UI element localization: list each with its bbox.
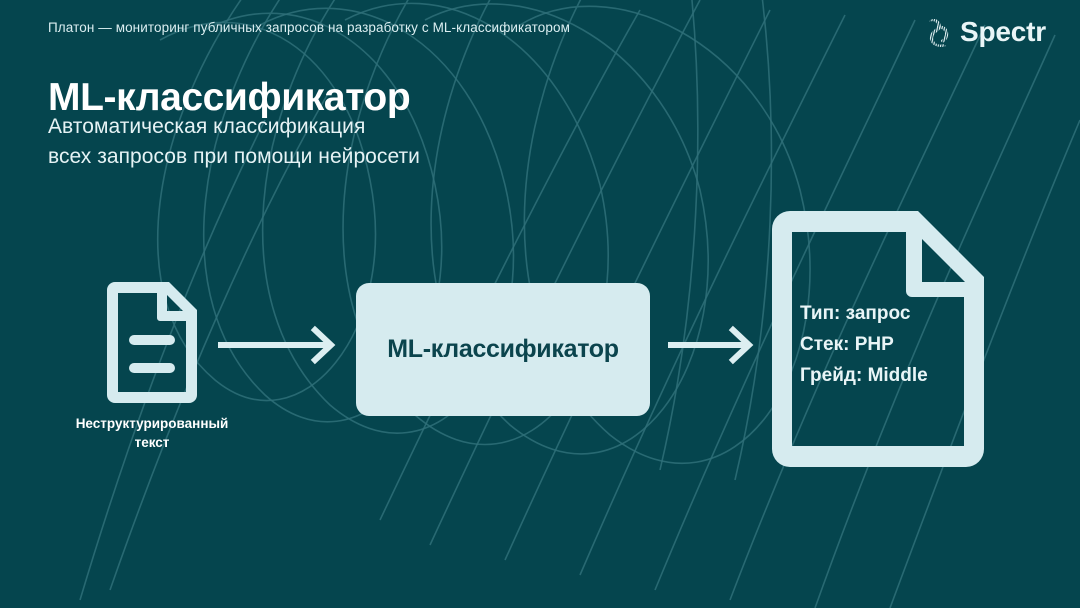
output-field-type: Тип: запрос	[800, 299, 968, 330]
output-document-card: Тип: запрос Стек: PHP Грейд: Middle	[772, 211, 984, 467]
spectr-striped-mark-icon	[925, 17, 951, 47]
brand-logo-text: Spectr	[960, 18, 1046, 46]
page-subtitle: Автоматическая классификация всех запрос…	[48, 112, 420, 172]
brand-logo: Spectr	[925, 17, 1046, 47]
document-lines-icon	[99, 281, 205, 404]
page-subtitle-line-2: всех запросов при помощи нейросети	[48, 142, 420, 172]
arrow-right-icon	[668, 325, 760, 365]
input-caption-line-1: Неструктурированный	[76, 416, 229, 431]
output-document-fields: Тип: запрос Стек: PHP Грейд: Middle	[800, 299, 968, 391]
ml-classifier-node[interactable]: ML-классификатор	[356, 283, 650, 416]
input-caption-line-2: текст	[135, 435, 170, 450]
page-subtitle-line-1: Автоматическая классификация	[48, 112, 420, 142]
arrow-right-icon	[218, 325, 342, 365]
output-field-stack: Стек: PHP	[800, 330, 968, 361]
slide-canvas: Платон — мониторинг публичных запросов н…	[0, 0, 1080, 608]
slide-kicker: Платон — мониторинг публичных запросов н…	[48, 20, 570, 35]
output-field-grade: Грейд: Middle	[800, 361, 968, 392]
ml-classifier-label: ML-классификатор	[387, 335, 619, 364]
input-document-caption: Неструктурированный текст	[44, 414, 260, 452]
